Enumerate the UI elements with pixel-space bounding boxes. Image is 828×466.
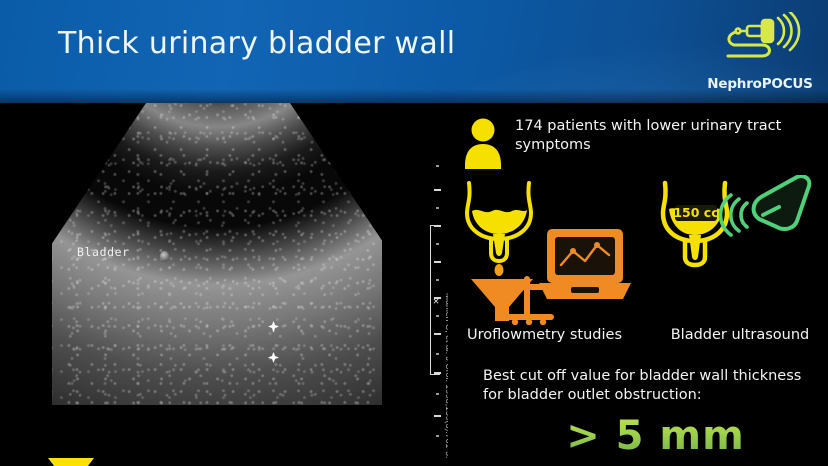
ultrasound-image-panel: Bladder Dist 0.978 cm (0, 103, 448, 466)
source-citation: Manieri C, et al. J Urol. 1998;159(3):76… (438, 293, 448, 459)
brand-logo: NephroPOCUS (704, 12, 816, 94)
bladder-ultrasound-caption: Bladder ultrasound (651, 327, 828, 343)
cutoff-value: > 5 mm (483, 413, 828, 459)
bladder-with-probe-icon: 150 cc (651, 175, 827, 325)
patients-summary: 174 patients with lower urinary tract sy… (463, 117, 823, 169)
presentation-slide: Thick urinary bladder wall (0, 0, 828, 466)
slide-content-column: 174 patients with lower urinary tract sy… (455, 103, 828, 466)
scale-tick (434, 225, 441, 227)
probe-orientation-dot-icon (160, 251, 169, 262)
conclusion-line-2: for bladder outlet obstruction: (483, 387, 702, 403)
page-title: Thick urinary bladder wall (58, 26, 455, 61)
bladder-ultrasound-block: 150 cc Bladder ultrasound (651, 175, 828, 343)
scale-tick (436, 207, 439, 209)
caliper-crosshair-icon (268, 352, 279, 363)
brand-logo-text: NephroPOCUS (704, 76, 816, 92)
uroflowmetry-block: Uroflowmetry studies (455, 175, 640, 343)
uroflowmetry-caption: Uroflowmetry studies (449, 327, 640, 343)
caliper-crosshair-icon (268, 321, 279, 332)
bladder-volume-badge-text: 150 cc (673, 205, 718, 220)
yellow-triangle-marker (48, 458, 94, 466)
patient-person-icon (463, 117, 503, 169)
ultrasound-annotation-bladder: Bladder (77, 245, 130, 259)
conclusion-block: Best cut off value for bladder wall thic… (483, 367, 828, 459)
conclusion-line-1: Best cut off value for bladder wall thic… (483, 368, 801, 384)
scale-tick (436, 243, 439, 245)
slide-header: Thick urinary bladder wall (0, 0, 828, 103)
ultrasound-sector-wrapper (52, 103, 382, 415)
scale-tick (434, 261, 441, 263)
scale-tick (436, 165, 439, 167)
conclusion-statement: Best cut off value for bladder wall thic… (483, 367, 828, 405)
scale-tick (434, 189, 441, 191)
slide-body: Bladder Dist 0.978 cm (0, 103, 828, 466)
ultrasound-tissue-layers (52, 103, 382, 415)
scale-tick (436, 279, 439, 281)
ultrasound-probe-icon (714, 12, 809, 70)
bladder-funnel-uroflowmeter-icon (455, 175, 635, 325)
patients-summary-text: 174 patients with lower urinary tract sy… (515, 117, 815, 154)
